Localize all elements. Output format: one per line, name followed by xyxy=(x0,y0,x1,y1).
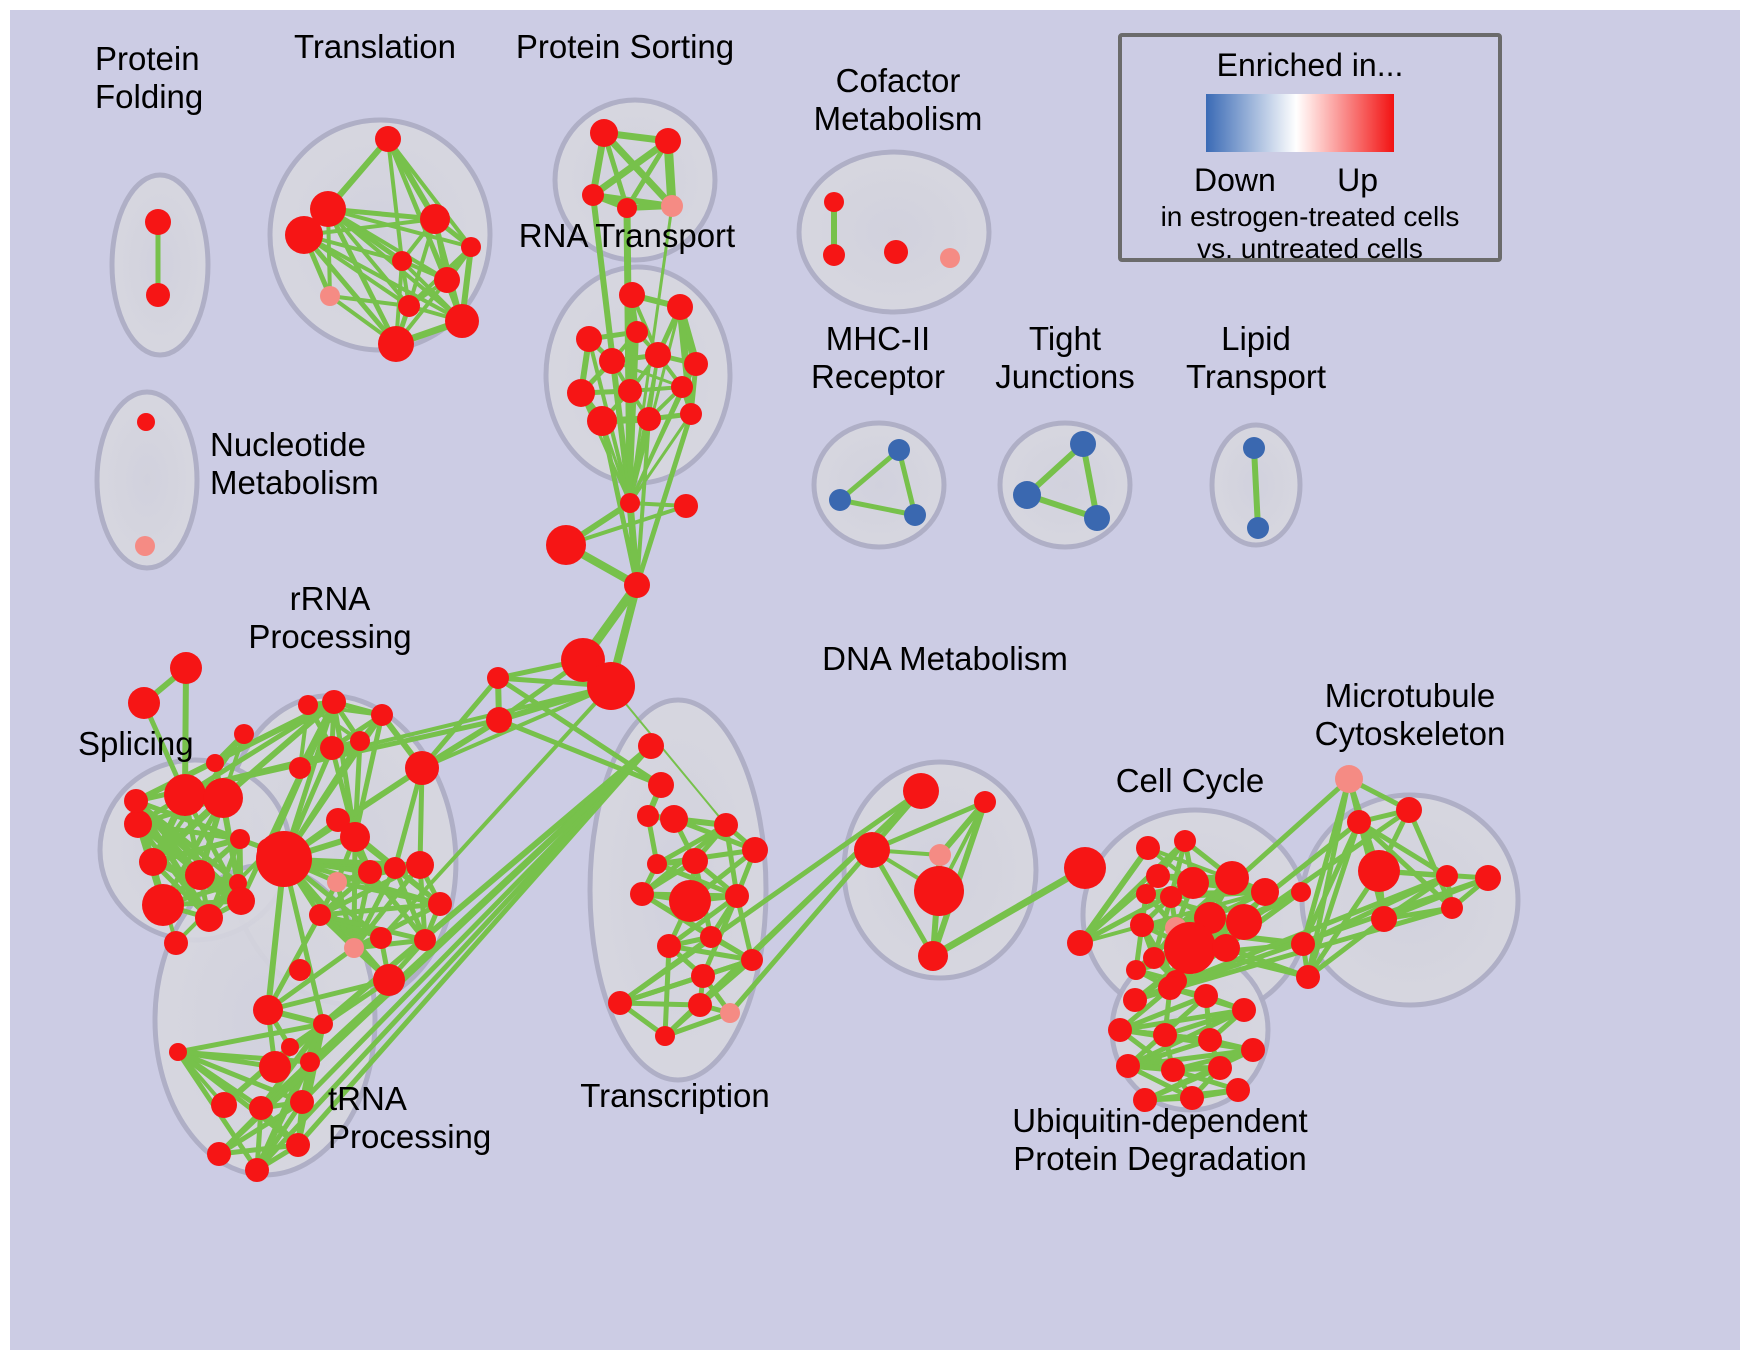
network-node[interactable] xyxy=(904,504,926,526)
legend-subtitle-line1: in estrogen-treated cells xyxy=(1161,201,1460,232)
network-node[interactable] xyxy=(227,887,255,915)
network-node[interactable] xyxy=(1064,847,1106,889)
network-node[interactable] xyxy=(392,251,412,271)
network-node[interactable] xyxy=(1226,904,1262,940)
network-node[interactable] xyxy=(1243,437,1265,459)
network-node[interactable] xyxy=(259,1051,291,1083)
network-node[interactable] xyxy=(142,884,184,926)
network-node[interactable] xyxy=(327,872,347,892)
network-node[interactable] xyxy=(286,1133,310,1157)
network-node[interactable] xyxy=(211,1092,237,1118)
network-node[interactable] xyxy=(914,866,964,916)
network-node[interactable] xyxy=(1177,867,1209,899)
cluster-label-tight-junctions: Junctions xyxy=(995,358,1134,395)
network-node[interactable] xyxy=(281,1038,299,1056)
network-node[interactable] xyxy=(371,704,393,726)
cluster-label-rrna-processing: rRNA xyxy=(290,580,371,617)
network-node[interactable] xyxy=(637,407,661,431)
network-node[interactable] xyxy=(344,938,364,958)
network-node[interactable] xyxy=(1291,932,1315,956)
network-node[interactable] xyxy=(1335,765,1363,793)
network-node[interactable] xyxy=(1291,882,1311,902)
cluster-ellipse-mhc-ii-receptor[interactable] xyxy=(814,423,944,547)
network-node[interactable] xyxy=(1136,836,1160,860)
network-node[interactable] xyxy=(309,904,331,926)
network-node[interactable] xyxy=(1241,1038,1265,1062)
network-node[interactable] xyxy=(234,724,254,744)
network-node[interactable] xyxy=(1116,1054,1140,1078)
network-node[interactable] xyxy=(1296,965,1320,989)
network-node[interactable] xyxy=(1146,864,1170,888)
cluster-label-microtubule-cytoskeleton: Microtubule xyxy=(1325,677,1496,714)
network-node[interactable] xyxy=(590,119,618,147)
network-node[interactable] xyxy=(741,949,763,971)
network-node[interactable] xyxy=(667,294,693,320)
network-node[interactable] xyxy=(655,1026,675,1046)
network-node[interactable] xyxy=(884,240,908,264)
network-node[interactable] xyxy=(1232,998,1256,1022)
network-node[interactable] xyxy=(742,837,768,863)
legend-color-ramp xyxy=(1206,94,1394,152)
network-node[interactable] xyxy=(195,904,223,932)
network-node[interactable] xyxy=(1441,897,1463,919)
network-node[interactable] xyxy=(824,192,844,212)
network-node[interactable] xyxy=(620,493,640,513)
network-edge[interactable] xyxy=(1254,448,1258,528)
network-node[interactable] xyxy=(671,376,693,398)
network-node[interactable] xyxy=(619,282,645,308)
network-node[interactable] xyxy=(903,773,939,809)
network-node[interactable] xyxy=(320,286,340,306)
network-node[interactable] xyxy=(1198,1028,1222,1052)
network-node[interactable] xyxy=(445,304,479,338)
network-node[interactable] xyxy=(1158,976,1182,1000)
network-node[interactable] xyxy=(1226,1078,1250,1102)
network-node[interactable] xyxy=(1160,886,1182,908)
network-node[interactable] xyxy=(1108,1018,1132,1042)
network-node[interactable] xyxy=(1153,1023,1177,1047)
cluster-label-mhc-ii-receptor: MHC-II xyxy=(826,320,930,357)
network-node[interactable] xyxy=(661,195,683,217)
cluster-label-tight-junctions: Tight xyxy=(1029,320,1101,357)
network-node[interactable] xyxy=(249,1096,273,1120)
cluster-label-rna-transport: RNA Transport xyxy=(519,217,735,254)
network-node[interactable] xyxy=(1143,947,1165,969)
network-node[interactable] xyxy=(691,964,715,988)
cluster-label-rrna-processing: Processing xyxy=(248,618,411,655)
cluster-label-protein-sorting: Protein Sorting xyxy=(516,28,734,65)
network-node[interactable] xyxy=(358,860,382,884)
cluster-label-dna-metabolism: DNA Metabolism xyxy=(822,640,1068,677)
network-node[interactable] xyxy=(289,959,311,981)
network-node[interactable] xyxy=(674,494,698,518)
cluster-label-ubiquitin-protein-degradation: Protein Degradation xyxy=(1013,1140,1307,1177)
network-node[interactable] xyxy=(406,851,434,879)
network-node[interactable] xyxy=(725,884,749,908)
network-node[interactable] xyxy=(487,667,509,689)
network-node[interactable] xyxy=(203,778,243,818)
network-node[interactable] xyxy=(1126,960,1146,980)
network-edge[interactable] xyxy=(354,837,355,948)
cluster-label-protein-folding: Folding xyxy=(95,78,203,115)
cluster-label-mhc-ii-receptor: Receptor xyxy=(811,358,945,395)
cluster-label-ubiquitin-protein-degradation: Ubiquitin-dependent xyxy=(1012,1102,1307,1139)
network-node[interactable] xyxy=(146,283,170,307)
network-node[interactable] xyxy=(384,857,406,879)
network-node[interactable] xyxy=(285,216,323,254)
network-node[interactable] xyxy=(1136,884,1156,904)
network-node[interactable] xyxy=(700,926,722,948)
network-node[interactable] xyxy=(1247,517,1269,539)
network-node[interactable] xyxy=(320,736,344,760)
network-node[interactable] xyxy=(655,128,681,154)
network-node[interactable] xyxy=(1215,861,1249,895)
network-node[interactable] xyxy=(1251,878,1279,906)
cluster-label-nucleotide-metabolism: Metabolism xyxy=(210,464,379,501)
network-node[interactable] xyxy=(370,927,392,949)
network-node[interactable] xyxy=(1164,922,1216,974)
network-node[interactable] xyxy=(587,662,635,710)
legend-low-label: Down xyxy=(1194,162,1276,198)
network-node[interactable] xyxy=(164,931,188,955)
network-node[interactable] xyxy=(630,882,654,906)
network-node[interactable] xyxy=(414,929,436,951)
network-node[interactable] xyxy=(207,1142,231,1166)
cluster-label-trna-processing: Processing xyxy=(328,1118,491,1155)
legend-subtitle-line2: vs. untreated cells xyxy=(1197,233,1423,264)
network-node[interactable] xyxy=(124,810,152,838)
network-node[interactable] xyxy=(599,348,625,374)
network-node[interactable] xyxy=(647,854,667,874)
network-node[interactable] xyxy=(1358,850,1400,892)
network-node[interactable] xyxy=(245,1158,269,1182)
network-node[interactable] xyxy=(940,248,960,268)
network-node[interactable] xyxy=(823,244,845,266)
network-canvas: ProteinFoldingTranslationProtein Sorting… xyxy=(10,10,1740,1350)
network-node[interactable] xyxy=(289,757,311,779)
network-node[interactable] xyxy=(350,731,370,751)
network-edge[interactable] xyxy=(620,1003,700,1005)
network-node[interactable] xyxy=(290,1090,314,1114)
cluster-label-protein-folding: Protein xyxy=(95,40,200,77)
network-node[interactable] xyxy=(461,237,481,257)
cluster-label-trna-processing: tRNA xyxy=(328,1080,407,1117)
network-node[interactable] xyxy=(139,848,167,876)
network-node[interactable] xyxy=(1347,810,1371,834)
network-node[interactable] xyxy=(1212,934,1240,962)
network-node[interactable] xyxy=(1161,1058,1185,1082)
network-node[interactable] xyxy=(486,707,512,733)
network-node[interactable] xyxy=(1013,481,1041,509)
network-node[interactable] xyxy=(1371,906,1397,932)
network-node[interactable] xyxy=(137,413,155,431)
network-node[interactable] xyxy=(888,439,910,461)
network-node[interactable] xyxy=(918,941,948,971)
network-node[interactable] xyxy=(230,829,250,849)
network-node[interactable] xyxy=(322,690,346,714)
network-node[interactable] xyxy=(680,403,702,425)
network-node[interactable] xyxy=(405,751,439,785)
cluster-label-transcription: Transcription xyxy=(580,1077,770,1114)
legend-title: Enriched in... xyxy=(1217,47,1404,83)
network-svg: ProteinFoldingTranslationProtein Sorting… xyxy=(10,10,1740,1350)
network-node[interactable] xyxy=(720,1003,740,1023)
cluster-label-cofactor-metabolism: Cofactor xyxy=(836,62,961,99)
network-node[interactable] xyxy=(682,848,708,874)
network-node[interactable] xyxy=(645,342,671,368)
network-node[interactable] xyxy=(829,489,851,511)
network-node[interactable] xyxy=(298,695,318,715)
network-node[interactable] xyxy=(684,352,708,376)
network-node[interactable] xyxy=(546,525,586,565)
network-node[interactable] xyxy=(714,813,738,837)
network-node[interactable] xyxy=(608,991,632,1015)
cluster-label-cell-cycle: Cell Cycle xyxy=(1116,762,1265,799)
network-node[interactable] xyxy=(624,572,650,598)
network-node[interactable] xyxy=(1436,865,1458,887)
network-node[interactable] xyxy=(256,831,312,887)
network-node[interactable] xyxy=(128,687,160,719)
network-node[interactable] xyxy=(135,536,155,556)
network-node[interactable] xyxy=(626,321,648,343)
network-node[interactable] xyxy=(669,880,711,922)
network-node[interactable] xyxy=(1174,830,1196,852)
network-node[interactable] xyxy=(567,379,595,407)
legend: Enriched in... Down Up in estrogen-treat… xyxy=(1120,35,1500,264)
network-node[interactable] xyxy=(929,844,951,866)
network-node[interactable] xyxy=(1084,505,1110,531)
network-node[interactable] xyxy=(688,993,712,1017)
network-node[interactable] xyxy=(420,204,450,234)
cluster-label-nucleotide-metabolism: Nucleotide xyxy=(210,426,366,463)
network-node[interactable] xyxy=(1070,431,1096,457)
network-node[interactable] xyxy=(657,934,681,958)
network-node[interactable] xyxy=(582,184,604,206)
network-node[interactable] xyxy=(1130,913,1154,937)
network-node[interactable] xyxy=(373,964,405,996)
network-node[interactable] xyxy=(618,379,642,403)
network-node[interactable] xyxy=(974,791,996,813)
legend-high-label: Up xyxy=(1337,162,1378,198)
network-node[interactable] xyxy=(1396,797,1422,823)
network-node[interactable] xyxy=(375,126,401,152)
cluster-label-lipid-transport: Transport xyxy=(1186,358,1326,395)
network-node[interactable] xyxy=(340,822,370,852)
network-node[interactable] xyxy=(1123,988,1147,1012)
network-node[interactable] xyxy=(637,805,659,827)
network-node[interactable] xyxy=(1067,930,1093,956)
network-node[interactable] xyxy=(576,326,602,352)
network-node[interactable] xyxy=(1194,984,1218,1008)
network-node[interactable] xyxy=(648,772,674,798)
cluster-label-lipid-transport: Lipid xyxy=(1221,320,1291,357)
network-node[interactable] xyxy=(638,733,664,759)
network-node[interactable] xyxy=(313,1014,333,1034)
network-node[interactable] xyxy=(124,789,148,813)
network-node[interactable] xyxy=(145,209,171,235)
network-node[interactable] xyxy=(1475,865,1501,891)
network-node[interactable] xyxy=(206,754,224,772)
network-node[interactable] xyxy=(253,995,283,1025)
network-node[interactable] xyxy=(185,860,215,890)
network-node[interactable] xyxy=(428,892,452,916)
cluster-label-translation: Translation xyxy=(294,28,456,65)
cluster-label-splicing: Splicing xyxy=(78,725,194,762)
network-node[interactable] xyxy=(378,326,414,362)
cluster-label-microtubule-cytoskeleton: Cytoskeleton xyxy=(1315,715,1506,752)
network-node[interactable] xyxy=(587,406,617,436)
figure-root: ProteinFoldingTranslationProtein Sorting… xyxy=(0,0,1750,1360)
network-node[interactable] xyxy=(660,805,688,833)
cluster-label-cofactor-metabolism: Metabolism xyxy=(814,100,983,137)
network-node[interactable] xyxy=(617,198,637,218)
network-node[interactable] xyxy=(854,832,890,868)
network-node[interactable] xyxy=(434,267,460,293)
network-node[interactable] xyxy=(164,774,206,816)
network-node[interactable] xyxy=(300,1052,320,1072)
network-node[interactable] xyxy=(169,1043,187,1061)
network-node[interactable] xyxy=(398,295,420,317)
cluster-ellipse-cofactor-metabolism[interactable] xyxy=(799,152,989,312)
network-node[interactable] xyxy=(170,652,202,684)
network-node[interactable] xyxy=(1208,1056,1232,1080)
